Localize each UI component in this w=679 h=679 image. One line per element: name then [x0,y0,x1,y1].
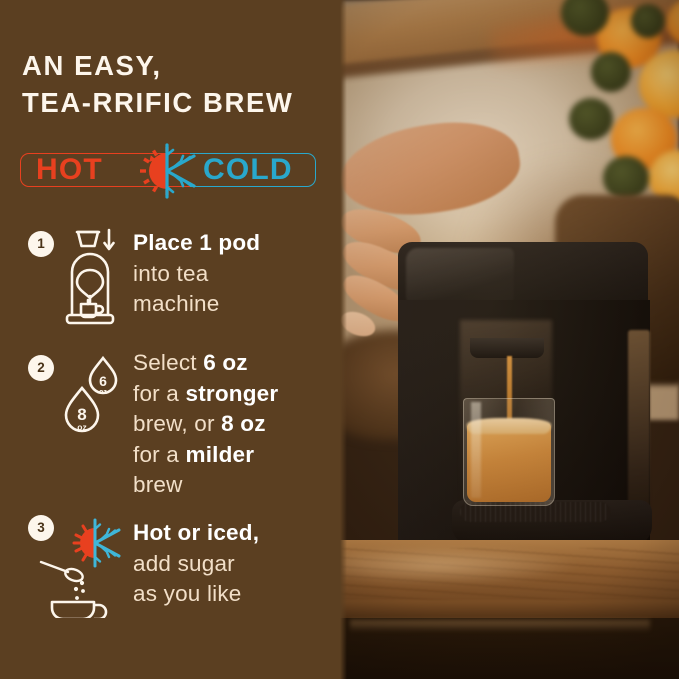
step-2-l2-b: stronger [185,381,278,406]
droplet-6-unit: oz [99,389,107,396]
hot-cold-badge: HOT COLD [20,146,316,194]
step-text-1: Place 1 pod into tea machine [133,228,338,320]
droplet-8-unit: oz [77,422,86,432]
step-2-l2-a: for a [133,381,185,406]
step-1-line-2: into tea [133,261,208,286]
step-3-line-2: add sugar [133,551,235,576]
step-item-2: 2 6 oz 8 oz Select 6 oz for a stronger b… [0,348,340,508]
droplet-6-amount: 6 [99,373,107,389]
badge-hot-label: HOT [36,155,103,185]
headline-line-1: AN EASY, [22,50,162,81]
step-2-l1-b: 6 oz [203,350,248,375]
poster-root: AN EASY, TEA-RRIFIC BREW HOT COLD [0,0,679,679]
step-number-badge-2: 2 [28,355,54,381]
photo-hand [340,125,530,245]
photo-counter-light [340,545,580,585]
step-2-l4-a: for a [133,442,185,467]
instructions-panel: AN EASY, TEA-RRIFIC BREW HOT COLD [0,0,340,679]
step-2-l3-a: brew, or [133,411,221,436]
step-text-3: Hot or iced, add sugar as you like [133,518,338,610]
step-item-1: 1 [0,224,340,348]
step-1-line-1: Place 1 pod [133,230,260,255]
step-text-2: Select 6 oz for a stronger brew, or 8 oz… [133,348,338,501]
step-number-badge-1: 1 [28,231,54,257]
step-2-l5-a: brew [133,472,183,497]
sun-snowflake-split-icon [136,143,198,199]
badge-cold-label: COLD [203,155,293,185]
photo-under-counter-light [350,620,650,632]
step-1-line-3: machine [133,291,219,316]
step-3-line-1: Hot or iced, [133,520,259,545]
step-3-line-3: as you like [133,581,242,606]
sun-snowflake-spoon-cup-icon [38,510,130,618]
step-item-3: 3 [0,508,340,628]
product-photo: BREWED Chai Tea Chai Latte Real Tea [340,0,679,679]
water-droplets-6oz-8oz-icon: 6 oz 8 oz [62,354,124,440]
page-title: AN EASY, TEA-RRIFIC BREW [22,47,332,121]
photo-left-edge-blend [340,0,347,679]
photo-machine-spout [470,338,544,358]
step-2-l4-b: milder [185,442,254,467]
pod-into-tea-machine-icon [62,226,124,326]
step-2-l3-b: 8 oz [221,411,266,436]
steps-list: 1 [0,224,340,628]
step-2-l1-a: Select [133,350,203,375]
photo-glass-highlight [471,402,481,498]
headline-line-2: TEA-RRIFIC BREW [22,84,332,121]
